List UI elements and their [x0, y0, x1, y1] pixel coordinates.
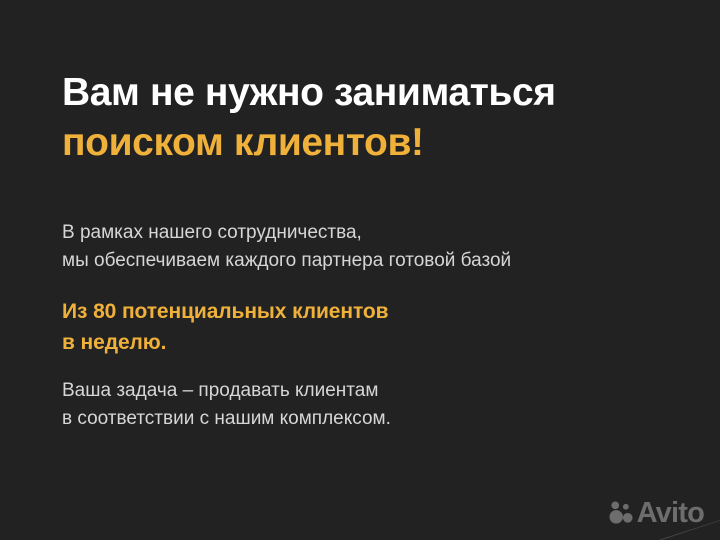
task-line-2: в соответствии с нашим комплексом.: [62, 405, 391, 433]
slide-content: Вам не нужно заниматься поиском клиентов…: [62, 0, 680, 540]
task-paragraph: Ваша задача – продавать клиентам в соотв…: [62, 377, 391, 433]
highlight-line-1: Из 80 потенциальных клиентов: [62, 297, 388, 328]
highlight-paragraph: Из 80 потенциальных клиентов в неделю.: [62, 297, 388, 358]
headline-exclamation: !: [411, 121, 424, 164]
headline-line-1: Вам не нужно заниматься: [62, 68, 556, 118]
headline: Вам не нужно заниматься поиском клиентов…: [62, 68, 556, 168]
intro-paragraph: В рамках нашего сотрудничества, мы обесп…: [62, 219, 511, 275]
avito-brand-text: Avito: [637, 499, 704, 528]
headline-accent-text: поиском клиентов: [62, 121, 411, 164]
promo-slide: Вам не нужно заниматься поиском клиентов…: [0, 0, 720, 540]
avito-watermark: Avito: [609, 499, 704, 528]
task-line-1: Ваша задача – продавать клиентам: [62, 377, 391, 405]
headline-line-2: поиском клиентов!: [62, 118, 556, 168]
intro-line-2: мы обеспечиваем каждого партнера готовой…: [62, 247, 511, 275]
intro-line-1: В рамках нашего сотрудничества,: [62, 219, 511, 247]
avito-dots-icon: [609, 501, 634, 526]
highlight-line-2: в неделю.: [62, 328, 388, 359]
